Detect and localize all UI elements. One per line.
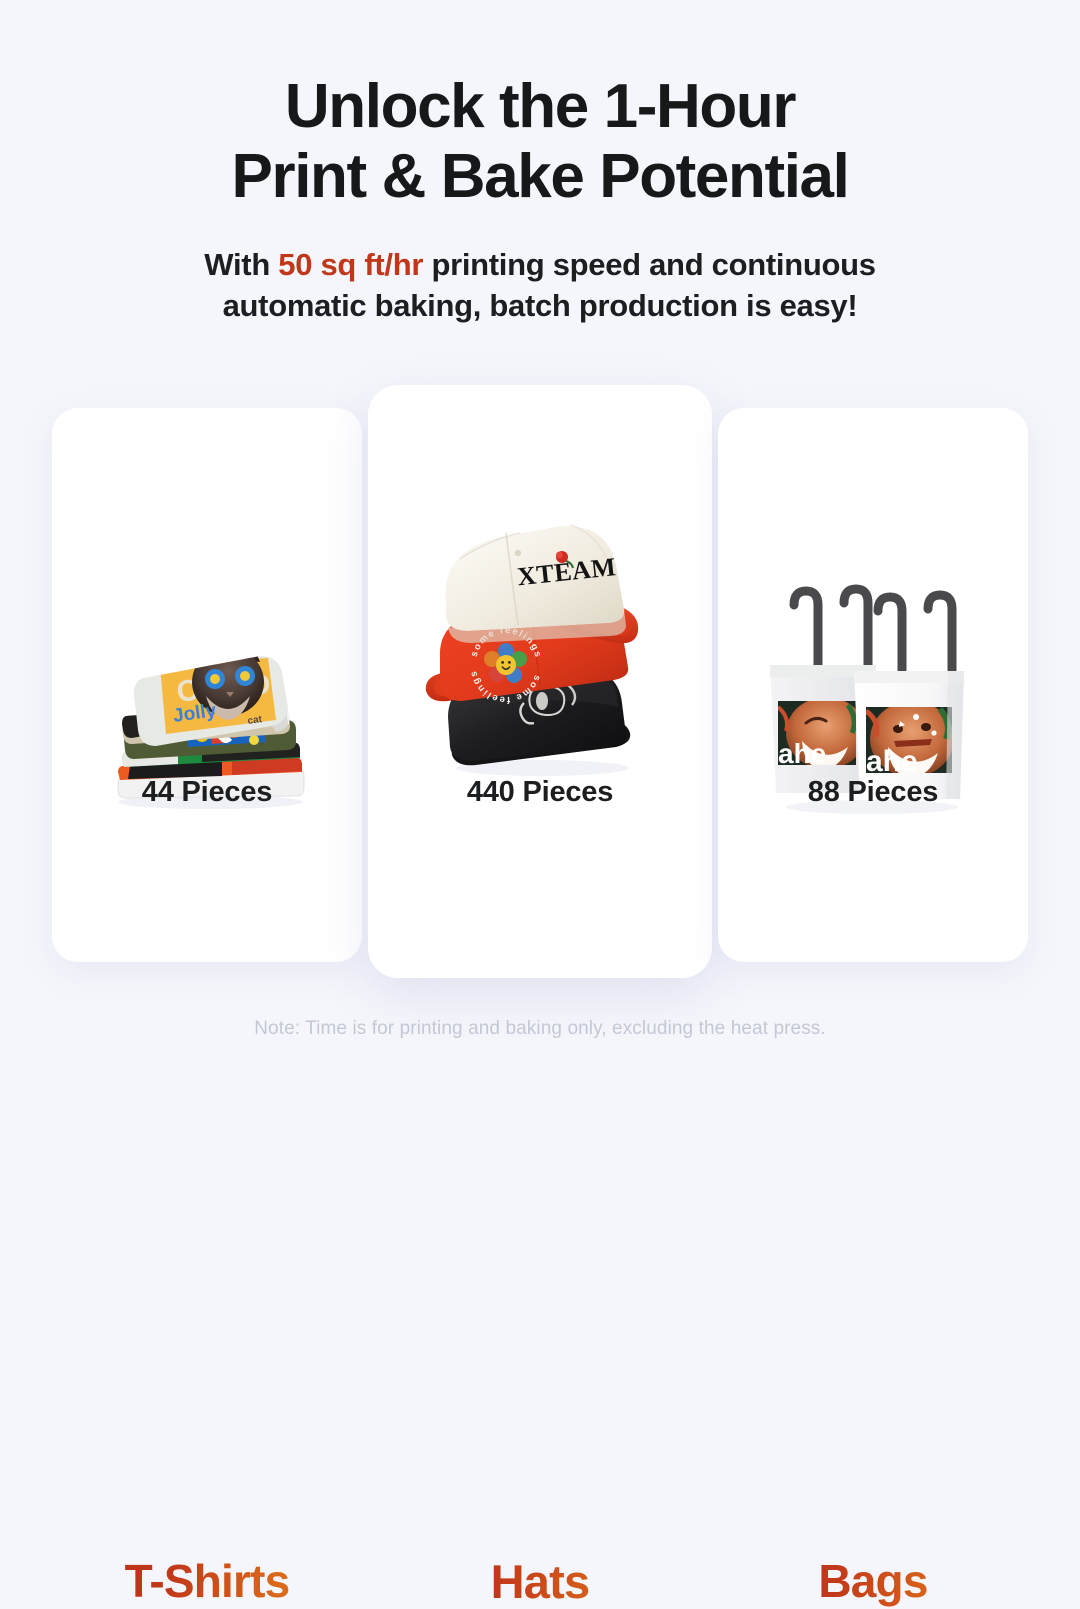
svg-text:ahe: ahe [778, 738, 826, 769]
hats-text-block: Hats 440 Pieces [368, 776, 712, 809]
bags-text-block: Bags 88 Pieces [718, 776, 1028, 809]
hat-stack-illustration: LF some feelings some [390, 485, 690, 785]
card-title-hats: Hats [368, 1554, 712, 1609]
card-title-bags: Bags [718, 1554, 1028, 1608]
svg-text:cat: cat [247, 714, 264, 727]
card-title-t-shirts: T-Shirts [52, 1554, 362, 1608]
product-card-bags[interactable]: ahe [718, 408, 1028, 962]
bags-image: ahe [718, 504, 1028, 816]
t-shirts-image: C D Jolly cat [52, 504, 362, 816]
card-count-t-shirts: 44 Pieces [52, 776, 362, 809]
footer-note: Note: Time is for printing and baking on… [0, 1018, 1080, 1040]
product-card-t-shirts[interactable]: C D Jolly cat [52, 408, 362, 962]
card-count-bags: 88 Pieces [718, 776, 1028, 809]
hats-image: LF some feelings some [368, 433, 712, 785]
product-cards-row: C D Jolly cat [0, 0, 1080, 1080]
product-card-hats[interactable]: LF some feelings some [368, 385, 712, 978]
t-shirts-text-block: T-Shirts 44 Pieces [52, 776, 362, 809]
card-count-hats: 440 Pieces [368, 776, 712, 809]
